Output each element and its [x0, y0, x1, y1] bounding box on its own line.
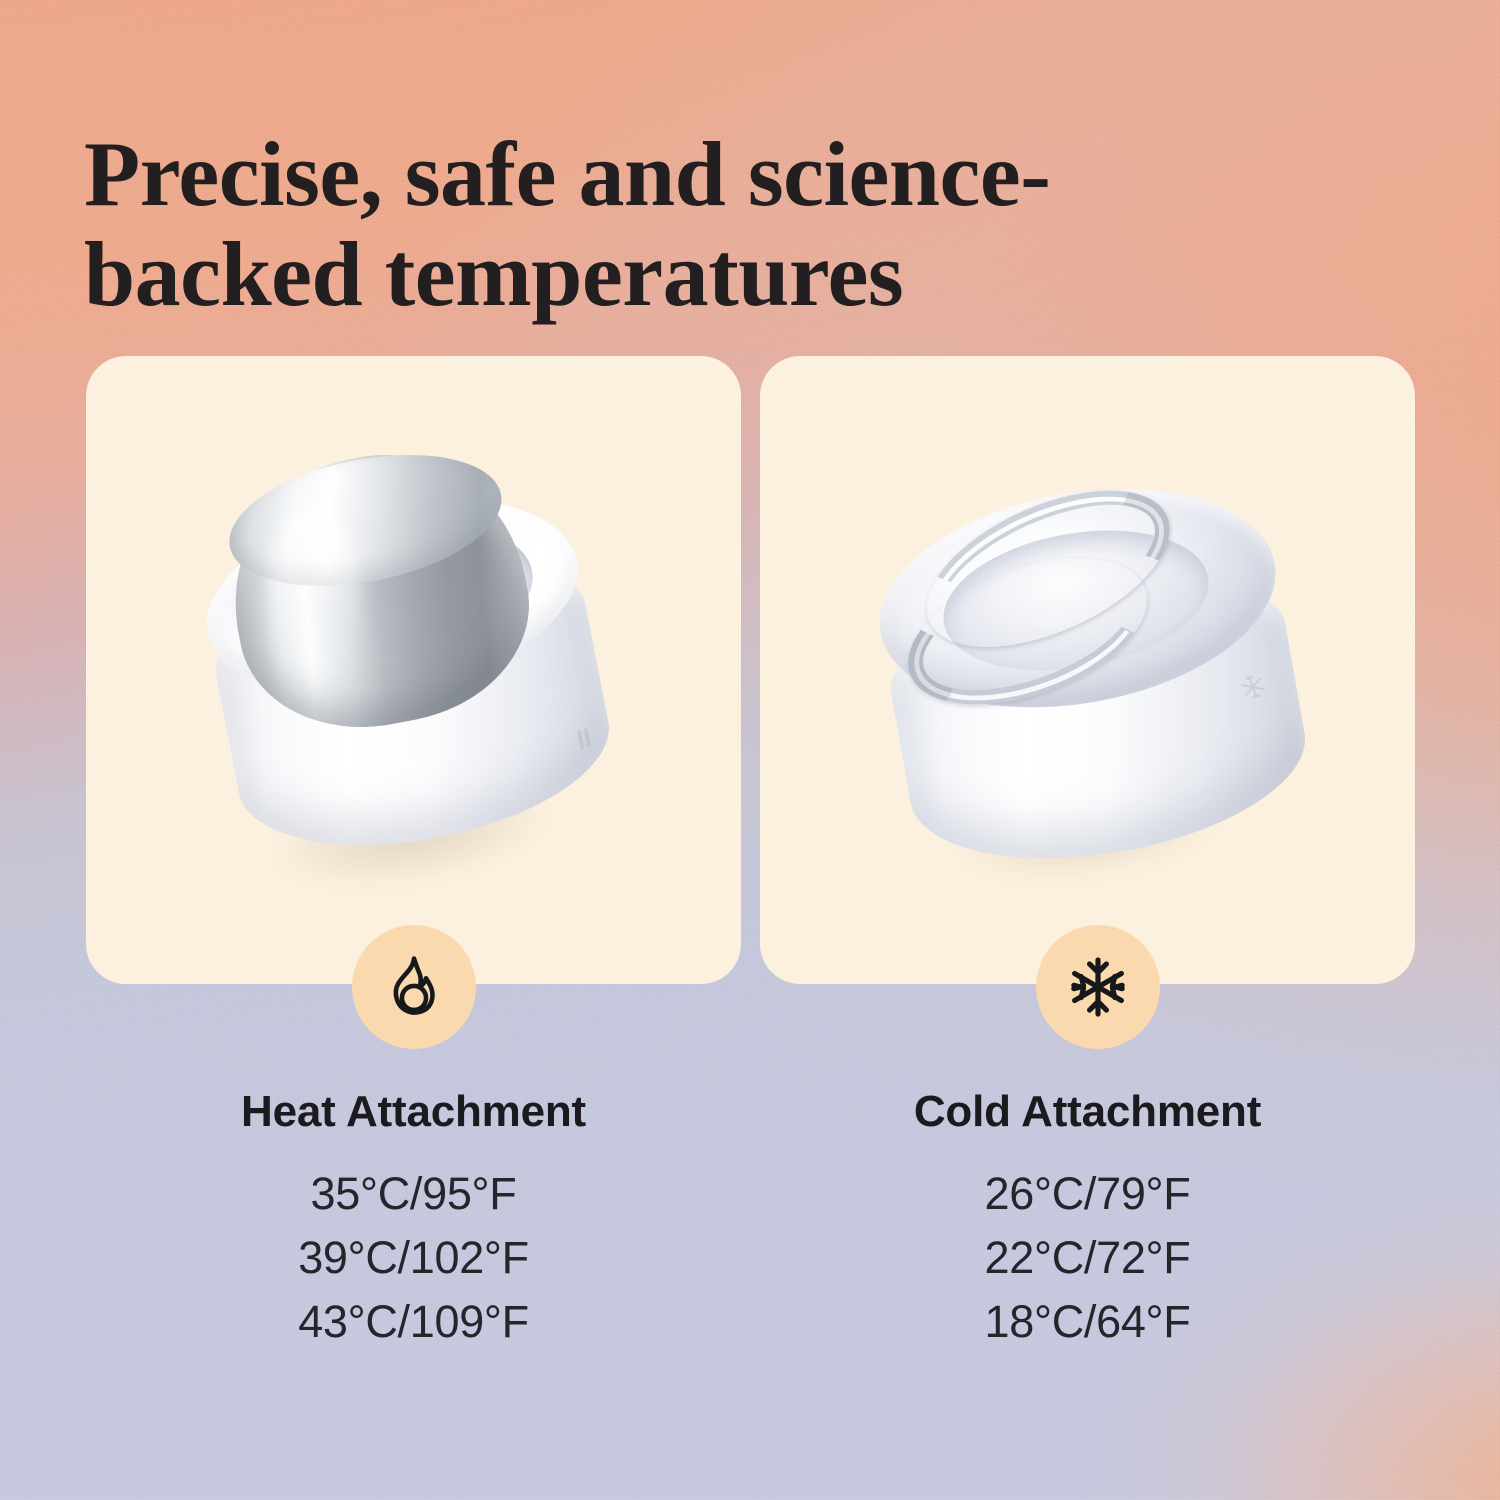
- heat-badge: [352, 925, 476, 1049]
- temperature-value: 18°C/64°F: [760, 1290, 1415, 1354]
- cold-attachment-title: Cold Attachment: [760, 1088, 1415, 1136]
- heat-attachment-title: Heat Attachment: [86, 1088, 741, 1136]
- heat-attachment-body: [181, 462, 639, 912]
- heat-steel-dome-top: [218, 434, 512, 606]
- cold-temperature-list: 26°C/79°F 22°C/72°F 18°C/64°F: [760, 1162, 1415, 1354]
- heat-caption-block: Heat Attachment 35°C/95°F 39°C/102°F 43°…: [86, 1088, 741, 1354]
- heat-attachment-product-image: [188, 444, 628, 904]
- temperature-value: 35°C/95°F: [86, 1162, 741, 1226]
- cold-caption-block: Cold Attachment 26°C/79°F 22°C/72°F 18°C…: [760, 1088, 1415, 1354]
- cold-badge: [1036, 925, 1160, 1049]
- cold-attachment-product-image: [865, 454, 1315, 894]
- temperature-value: 39°C/102°F: [86, 1226, 741, 1290]
- cold-attachment-body: [850, 445, 1332, 904]
- temperature-value: 26°C/79°F: [760, 1162, 1415, 1226]
- heat-attachment-card: [86, 356, 741, 984]
- cold-attachment-card: [760, 356, 1415, 984]
- page-title: Precise, safe and science- backed temper…: [84, 124, 1264, 325]
- temperature-value: 22°C/72°F: [760, 1226, 1415, 1290]
- product-feature-graphic: Precise, safe and science- backed temper…: [0, 0, 1500, 1500]
- flame-icon: [379, 952, 449, 1022]
- snowflake-icon: [1062, 951, 1134, 1023]
- heat-temperature-list: 35°C/95°F 39°C/102°F 43°C/109°F: [86, 1162, 741, 1354]
- temperature-value: 43°C/109°F: [86, 1290, 741, 1354]
